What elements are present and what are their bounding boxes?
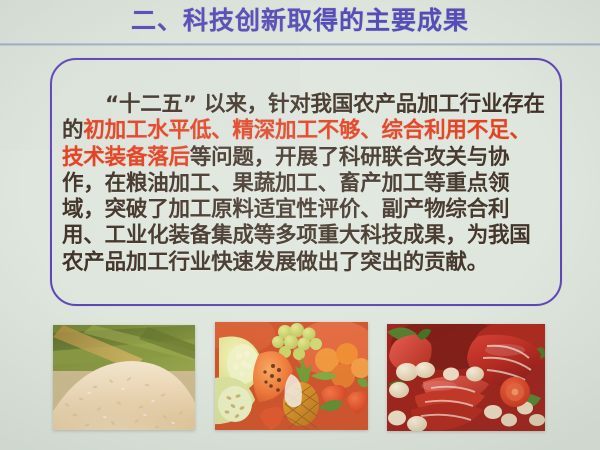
- page-title: 二、科技创新取得的主要成果: [0, 4, 600, 38]
- body-paragraph-text: “十二五” 以来，针对我国农产品加工行业存在的初加工水平低、精深加工不够、综合利…: [62, 92, 548, 276]
- title-divider-rule: [0, 43, 600, 46]
- grain-photo-art: [53, 325, 195, 430]
- presentation-slide: 二、科技创新取得的主要成果 “十二五” 以来，针对我国农产品加工行业存在的初加工…: [0, 0, 600, 450]
- body-paragraph: “十二五” 以来，针对我国农产品加工行业存在的初加工水平低、精深加工不够、综合利…: [62, 92, 548, 276]
- produce-processing-photo: [215, 322, 368, 430]
- meat-photo-art: [387, 324, 545, 431]
- slide-title-bar: 二、科技创新取得的主要成果: [0, 0, 600, 45]
- meat-processing-photo: [387, 324, 545, 431]
- grain-processing-photo: [53, 325, 195, 430]
- produce-photo-art: [215, 322, 368, 430]
